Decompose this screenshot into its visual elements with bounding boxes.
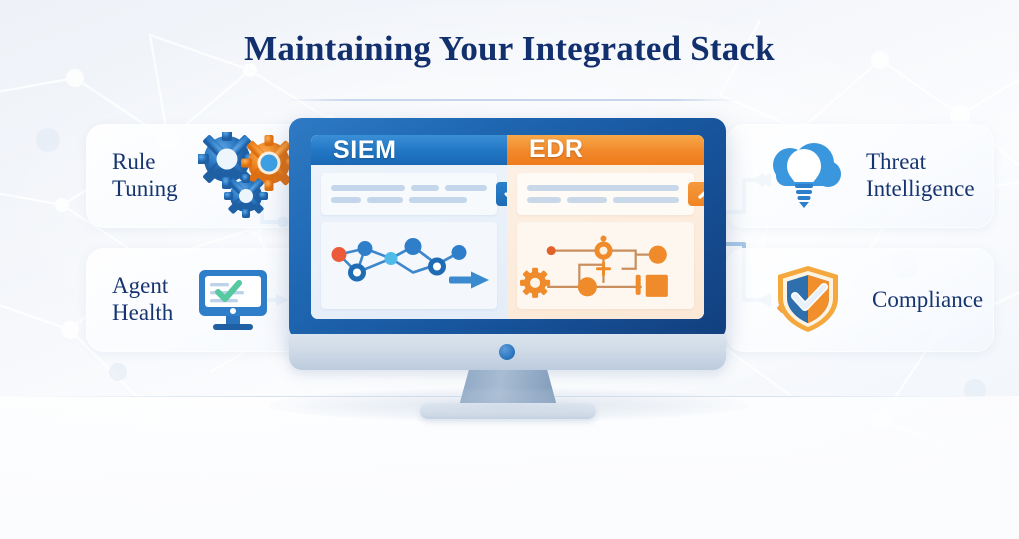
gears-icon — [198, 132, 294, 220]
chevron-up-badge-icon[interactable] — [688, 182, 704, 206]
siem-summary-row — [321, 173, 497, 215]
cloud-lightbulb-icon — [764, 139, 844, 213]
shield-check-icon — [764, 262, 850, 338]
pane-header-edr: EDR — [507, 135, 704, 165]
edr-text-placeholder-bars — [527, 185, 679, 203]
card-label-rule-tuning: Rule Tuning — [112, 149, 178, 202]
title-divider — [285, 99, 737, 101]
monitor-screen: SIEM — [311, 135, 704, 319]
edr-summary-row — [517, 173, 694, 215]
card-label-threat-intelligence: Threat Intelligence — [866, 149, 975, 202]
network-graph-icon — [321, 222, 497, 309]
infographic-canvas: Maintaining Your Integrated Stack Rule T… — [0, 0, 1019, 539]
pane-siem[interactable]: SIEM — [311, 135, 507, 319]
card-compliance[interactable]: Compliance — [726, 248, 994, 352]
card-label-compliance: Compliance — [872, 287, 983, 314]
pane-body-edr — [507, 165, 704, 319]
pane-header-siem: SIEM — [311, 135, 507, 165]
page-title: Maintaining Your Integrated Stack — [0, 29, 1019, 69]
monitor-stand — [459, 370, 557, 406]
desktop-monitor: SIEM — [289, 118, 726, 418]
siem-text-placeholder-bars — [331, 185, 487, 203]
flow-diagram-icon — [517, 222, 694, 309]
pane-body-siem — [311, 165, 507, 319]
card-threat-intelligence[interactable]: Threat Intelligence — [726, 124, 994, 228]
monitor-base — [420, 403, 596, 419]
camera-dot-icon — [499, 344, 515, 360]
pane-edr[interactable]: EDR — [507, 135, 704, 319]
card-label-agent-health: Agent Health — [112, 273, 173, 326]
monitor-bezel: SIEM — [289, 118, 726, 340]
monitor-check-icon — [193, 264, 273, 336]
